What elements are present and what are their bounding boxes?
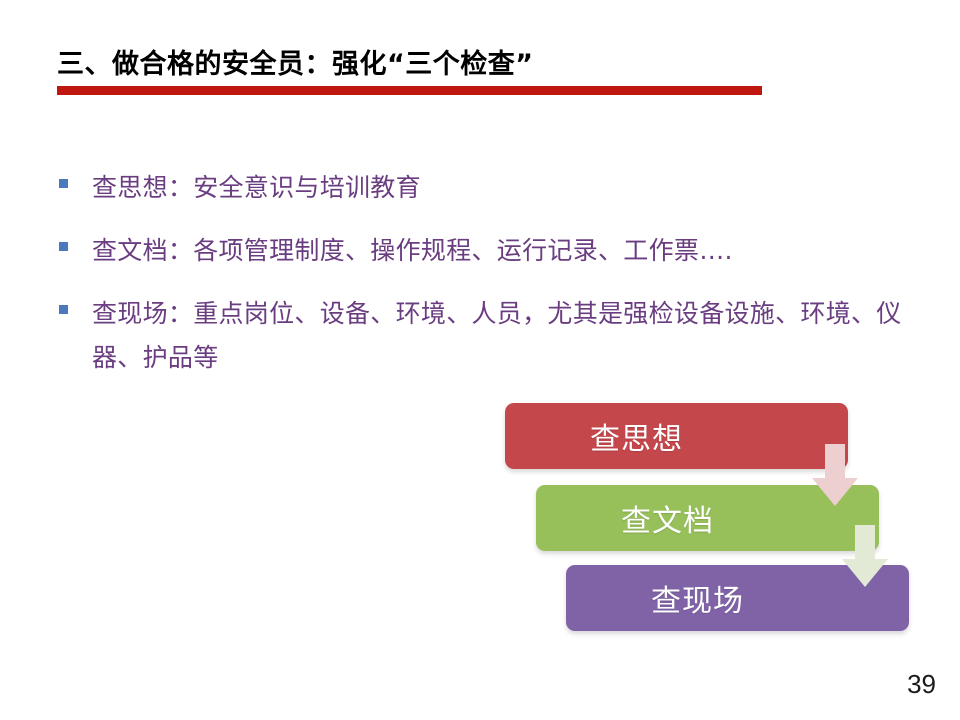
step-box-label: 查现场 — [566, 576, 829, 620]
list-item: 查现场：重点岗位、设备、环境、人员，尤其是强检设备设施、环境、仪器、护品等 — [57, 292, 927, 380]
list-item: 查文档：各项管理制度、操作规程、运行记录、工作票…. — [57, 229, 927, 273]
square-bullet-icon — [59, 305, 68, 314]
page-number: 39 — [907, 669, 936, 700]
bullet-list: 查思想：安全意识与培训教育 查文档：各项管理制度、操作规程、运行记录、工作票….… — [57, 166, 927, 399]
list-item: 查思想：安全意识与培训教育 — [57, 166, 927, 210]
step-box-cha-si-xiang: 查思想 — [505, 403, 848, 469]
page-title: 三、做合格的安全员：强化“三个检查” — [57, 42, 534, 81]
arrow-down-icon — [812, 444, 858, 506]
square-bullet-icon — [59, 242, 68, 251]
arrow-down-icon — [842, 525, 888, 587]
staircase-diagram: 查思想 查文档 查现场 — [490, 395, 930, 645]
slide-canvas: 三、做合格的安全员：强化“三个检查” 查思想：安全意识与培训教育 查文档：各项管… — [0, 0, 960, 720]
title-underline-rule — [57, 86, 762, 95]
list-item-text: 查现场：重点岗位、设备、环境、人员，尤其是强检设备设施、环境、仪器、护品等 — [92, 299, 902, 372]
list-item-text: 查思想：安全意识与培训教育 — [92, 173, 421, 202]
square-bullet-icon — [59, 179, 68, 188]
step-box-label: 查文档 — [536, 496, 799, 540]
list-item-text: 查文档：各项管理制度、操作规程、运行记录、工作票…. — [92, 236, 733, 265]
step-box-label: 查思想 — [505, 414, 768, 458]
